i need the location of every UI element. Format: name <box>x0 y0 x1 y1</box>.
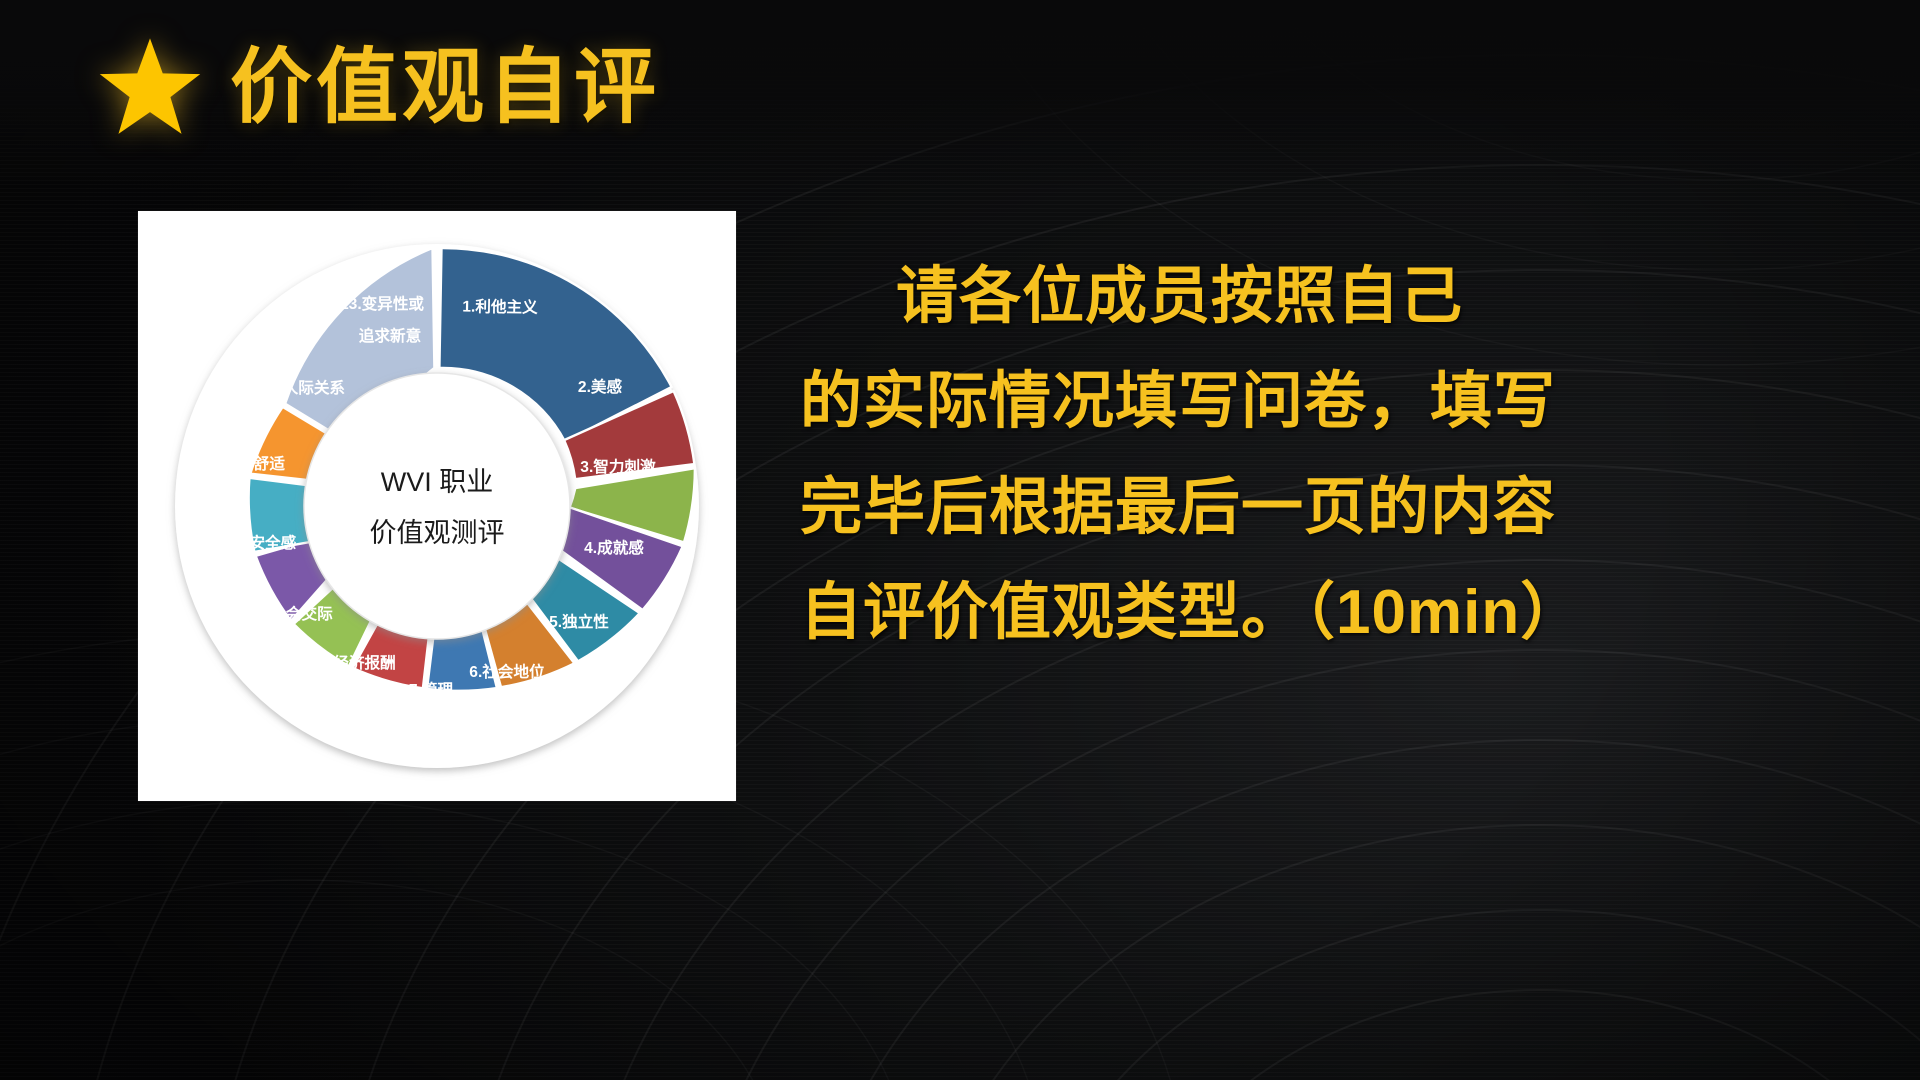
star-icon <box>96 34 204 142</box>
wheel-label-12: 12.人际关系 <box>261 378 345 397</box>
wheel-label-11: 11.舒适 <box>233 454 285 473</box>
wheel-label-10: 10.安全感 <box>228 533 297 552</box>
wheel-center-line-1: WVI 职业 <box>381 467 494 497</box>
wheel-label-5: 5.独立性 <box>549 612 609 631</box>
wheel-label-8: 8.经济报酬 <box>320 653 395 672</box>
slide-title-row: 价值观自评 <box>96 34 660 142</box>
wvi-wheel-diagram: 1.利他主义 2.美感 3.智力刺激 4.成就感 5.独立性 6.社会地位 7.… <box>138 211 736 801</box>
instruction-line-4: 自评价值观类型。（10min） <box>800 578 1900 647</box>
instruction-line-1: 请各位成员按照自己 <box>800 262 1900 331</box>
page-title: 价值观自评 <box>230 47 660 129</box>
wheel-label-9: 9.社会交际 <box>257 604 333 623</box>
wheel-label-3: 3.智力刺激 <box>580 457 656 476</box>
instruction-line-3: 完毕后根据最后一页的内容 <box>800 473 1900 542</box>
instruction-text-block: 请各位成员按照自己 的实际情况填写问卷，填写 完毕后根据最后一页的内容 自评价值… <box>800 262 1900 648</box>
instruction-line-2: 的实际情况填写问卷，填写 <box>800 367 1900 436</box>
wheel-label-4: 4.成就感 <box>584 538 644 557</box>
wheel-center-line-2: 价值观测评 <box>370 518 505 548</box>
wheel-label-13-line1: 13.变异性或 <box>340 294 424 313</box>
wheel-label-7: 7.管理 <box>409 680 454 699</box>
wheel-label-13-line2: 追求新意 <box>359 326 421 345</box>
wheel-label-1: 1.利他主义 <box>462 296 538 316</box>
slide-canvas: 价值观自评 <box>0 0 1920 1080</box>
wvi-wheel-card: 1.利他主义 2.美感 3.智力刺激 4.成就感 5.独立性 6.社会地位 7.… <box>138 211 736 801</box>
wheel-label-2: 2.美感 <box>578 377 623 396</box>
wheel-label-6: 6.社会地位 <box>469 662 545 681</box>
